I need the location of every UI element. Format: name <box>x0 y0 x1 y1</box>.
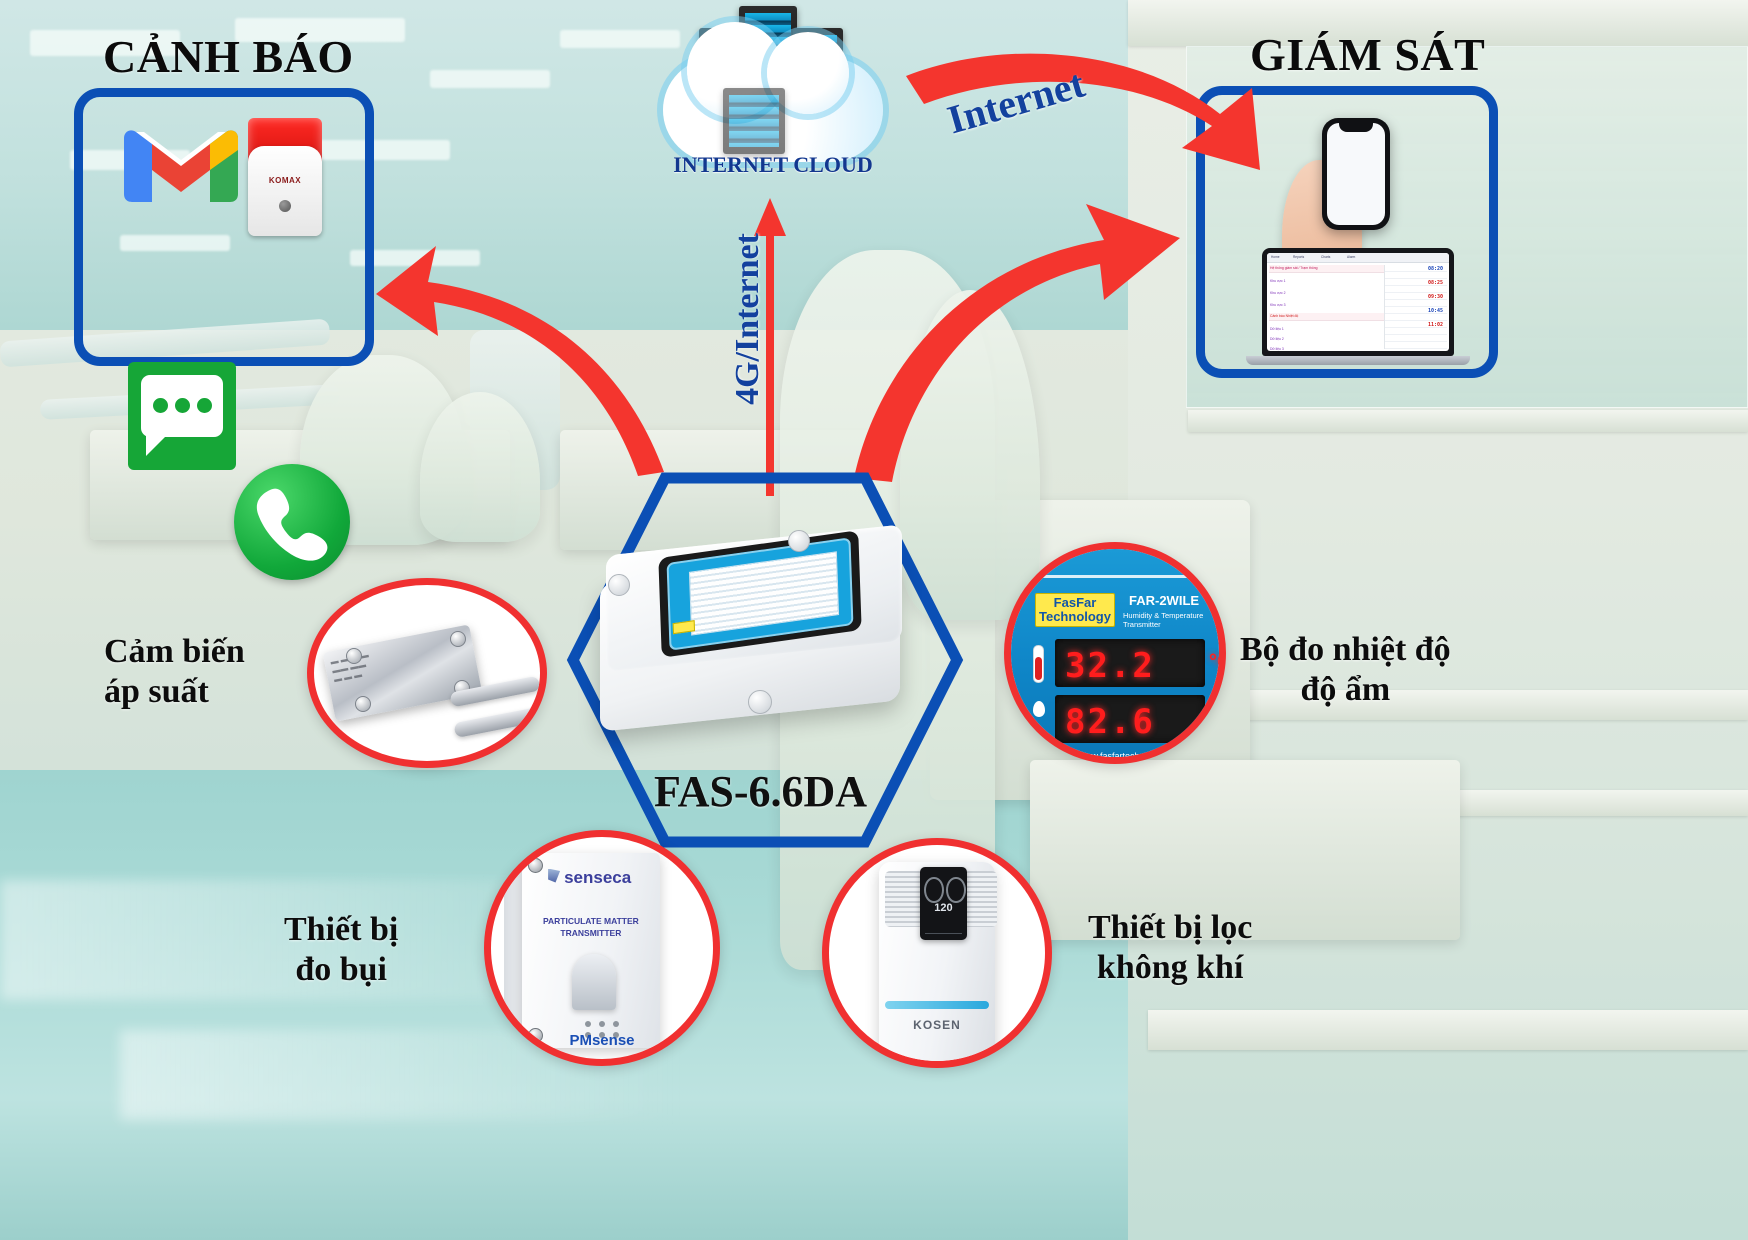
dust-sensor-circle: senseca PARTICULATE MATTER TRANSMITTER P… <box>484 830 720 1066</box>
laptop-screen: Home Reports Charts Alarm Hệ thống giám … <box>1267 253 1449 351</box>
smartphone-device[interactable] <box>1322 118 1390 230</box>
sms-dot <box>197 398 212 413</box>
humidity-drop-icon <box>1033 701 1045 717</box>
enclosure-screw <box>788 530 810 552</box>
purifier-intake-grill <box>963 871 998 927</box>
dashboard-readout: 10:45 <box>1428 308 1443 314</box>
senseca-logo-mark <box>548 869 560 883</box>
uplink-label: 4G/Internet <box>729 233 767 405</box>
dashboard-menu-item[interactable]: Alarm <box>1347 255 1355 259</box>
dashboard-menu-item[interactable]: Reports <box>1293 255 1304 259</box>
dashboard-readout: 09:30 <box>1428 294 1443 300</box>
sms-bubble-tail <box>146 434 168 456</box>
pressure-sensor-label-line1: Cảm biến <box>104 632 245 672</box>
sensor-screw <box>450 631 466 647</box>
pm-screw <box>528 858 543 873</box>
dashboard-readout: 08:25 <box>1428 280 1443 286</box>
siren-led <box>279 200 291 212</box>
meter-brand-line2: Technology <box>1036 610 1114 624</box>
thermometer-icon <box>1033 645 1044 683</box>
meter-model-text: FAR-2WILE <box>1129 593 1199 608</box>
pm-sensor-cap <box>572 954 616 1010</box>
dashboard-data-grid <box>1384 265 1447 349</box>
siren-brand-label: KOMAX <box>248 176 322 185</box>
dashboard-alarm-text: Cảnh báo Nhiệt độ <box>1270 314 1298 318</box>
infographic-canvas: CẢNH BÁO KOMAX <box>0 0 1748 1240</box>
sensor-screw <box>355 696 371 712</box>
enclosure-screw <box>748 690 772 714</box>
temperature-display-panel: 32.2 <box>1055 639 1205 687</box>
purifier-display[interactable]: 120 <box>920 867 968 940</box>
laptop-lid: Home Reports Charts Alarm Hệ thống giám … <box>1262 248 1454 356</box>
temp-humidity-label: Bộ đo nhiệt độ độ ẩm <box>1240 630 1451 710</box>
wall-rail <box>1148 1010 1748 1050</box>
dashboard-menu-item[interactable]: Charts <box>1321 255 1330 259</box>
purifier-dial <box>924 877 943 903</box>
dashboard-row[interactable]: Khu vực 2 <box>1270 291 1285 295</box>
purifier-brand: KOSEN <box>829 1018 1045 1032</box>
dust-sensor-label-line1: Thiết bị <box>284 910 398 950</box>
enclosure-screw <box>608 574 630 596</box>
gmail-icon[interactable] <box>122 120 240 215</box>
humidity-display-panel: 82.6 <box>1055 695 1205 743</box>
ceiling-light <box>430 70 550 88</box>
dashboard-readout: 11:02 <box>1428 322 1443 328</box>
siren-housing <box>248 146 322 236</box>
internet-cloud: INTERNET CLOUD <box>663 0 883 200</box>
purifier-dial <box>946 877 965 903</box>
pm-vent-hole <box>585 1021 591 1027</box>
pm-transmitter-body: senseca PARTICULATE MATTER TRANSMITTER <box>522 853 660 1048</box>
humidity-value: 82.6 <box>1065 702 1155 742</box>
air-purifier-label-line2: không khí <box>1088 948 1252 988</box>
meter-subtitle: Humidity & Temperature Transmitter <box>1123 611 1219 629</box>
server-rack <box>723 88 785 154</box>
pressure-sensor-label: Cảm biến áp suất <box>104 632 245 712</box>
pm-subtitle-line2: TRANSMITTER <box>522 929 660 939</box>
alert-section-title: CẢNH BÁO <box>103 30 354 83</box>
wall-rail <box>1188 410 1748 432</box>
dashboard-row[interactable]: Dữ liệu 1 <box>1270 327 1284 331</box>
sensor-screw <box>346 648 362 664</box>
dashboard-menu-item[interactable]: Home <box>1271 255 1280 259</box>
pm-brand-text: senseca <box>564 868 631 888</box>
dust-sensor-label-line2: đo bụi <box>284 950 398 990</box>
temp-humidity-circle: FasFar Technology FAR-2WILE Humidity & T… <box>1004 542 1226 764</box>
dashboard-row[interactable]: Dữ liệu 2 <box>1270 337 1284 341</box>
laptop-device[interactable]: Home Reports Charts Alarm Hệ thống giám … <box>1262 248 1454 356</box>
laptop-base <box>1246 356 1470 365</box>
cloud-label: INTERNET CLOUD <box>663 152 883 178</box>
temp-humidity-label-line2: độ ẩm <box>1240 670 1451 710</box>
air-purifier-circle: 120 KOSEN <box>822 838 1052 1068</box>
sms-icon[interactable] <box>128 362 236 470</box>
dashboard-readout: 08:20 <box>1428 266 1443 272</box>
dashboard-header-text: Hệ thống giám sát / Trạm thông <box>1270 266 1318 270</box>
meter-brand-logo: FasFar Technology <box>1035 593 1115 627</box>
temp-humidity-label-line1: Bộ đo nhiệt độ <box>1240 630 1451 670</box>
arrow-hub-to-alert <box>376 220 676 480</box>
dashboard-row[interactable]: Dữ liệu 3 <box>1270 347 1284 351</box>
pm-vent-hole <box>613 1021 619 1027</box>
sms-dot <box>153 398 168 413</box>
hub-model-label: FAS-6.6DA <box>654 766 867 817</box>
phone-notch <box>1339 123 1373 132</box>
meter-faceplate: FasFar Technology FAR-2WILE Humidity & T… <box>1011 549 1219 757</box>
arrow-hub-to-monitor <box>836 196 1196 486</box>
ceiling-light <box>560 30 680 48</box>
air-purifier-label: Thiết bị lọc không khí <box>1088 908 1252 988</box>
purifier-intake-grill <box>885 871 924 927</box>
dashboard-row[interactable]: Khu vực 1 <box>1270 279 1285 283</box>
purifier-light-bar <box>885 1001 989 1009</box>
phone-call-icon[interactable] <box>234 464 350 580</box>
pressure-sensor-label-line2: áp suất <box>104 672 245 712</box>
dashboard-row[interactable]: Khu vực 3 <box>1270 303 1285 307</box>
dust-sensor-label: Thiết bị đo bụi <box>284 910 398 990</box>
temperature-unit: °C <box>1209 651 1226 674</box>
siren-alarm-icon[interactable]: KOMAX <box>248 118 322 236</box>
hub-device-enclosure <box>600 530 930 740</box>
pm-product-name: PMsense <box>491 1032 713 1049</box>
pressure-sensor-circle: ▬ ▬ ▬ ▬▬▬ ▬▬▬ ▬ ▬ <box>307 578 547 768</box>
pm-vent-hole <box>599 1021 605 1027</box>
phone-screen <box>1327 123 1385 225</box>
pm-subtitle-line1: PARTICULATE MATTER <box>522 917 660 927</box>
meter-brand-line1: FasFar <box>1036 596 1114 610</box>
purifier-value: 120 <box>920 902 968 914</box>
sms-dot <box>175 398 190 413</box>
air-purifier-label-line1: Thiết bị lọc <box>1088 908 1252 948</box>
temperature-value: 32.2 <box>1065 646 1155 686</box>
